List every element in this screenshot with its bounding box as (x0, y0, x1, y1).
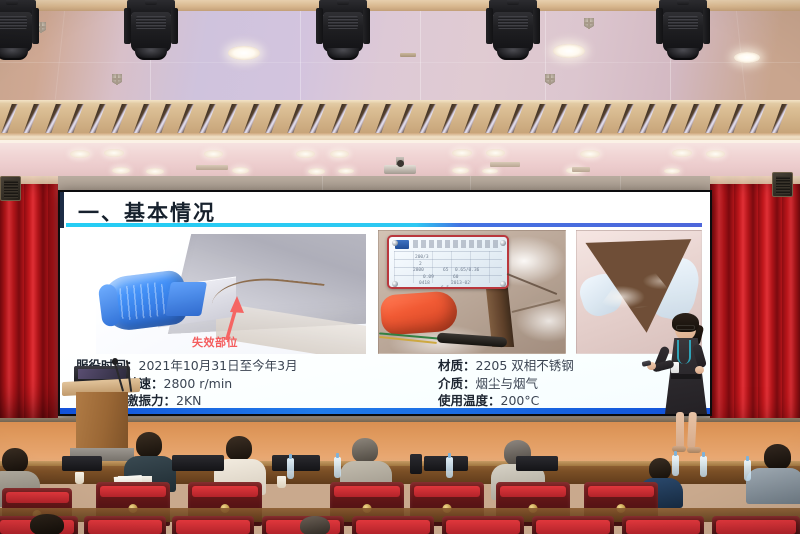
audience-head (352, 438, 378, 463)
stage-light (123, 0, 179, 62)
desk-monitor (62, 456, 102, 471)
ceiling-downlight (734, 52, 760, 63)
spec-line: 材质：2205 双相不锈钢 (438, 358, 574, 375)
wood-slat-ceiling-band (0, 100, 800, 140)
presentation-slide: 一、基本情况 失效部位 (60, 192, 710, 414)
wall-speaker-left (0, 176, 21, 201)
ceiling-downlight (228, 46, 260, 60)
water-bottle (700, 456, 707, 477)
slide-footer-bar (60, 408, 710, 414)
water-bottle (287, 458, 294, 479)
audience-head (136, 432, 162, 458)
audience-area (0, 440, 800, 534)
microphone-head (112, 358, 118, 365)
stage-light (315, 0, 371, 62)
sprinkler-head (584, 18, 594, 29)
spec-value: 200°C (501, 393, 540, 408)
figure-nameplate-photo: 200/3 2 2800 65 0.65/0.36 0.09 60 0418 2… (378, 230, 566, 354)
sprinkler-head (545, 74, 555, 85)
desk-monitor (410, 454, 422, 474)
ceiling-downlight (553, 44, 585, 58)
spec-line: 介质：烟尘与烟气 (438, 376, 574, 393)
spec-value: 2800 r/min (164, 376, 233, 391)
title-divider-rule (66, 223, 702, 227)
audience-head (764, 444, 791, 470)
spec-column-right: 材质：2205 双相不锈钢 介质：烟尘与烟气 使用温度：200°C (438, 358, 574, 410)
audience-head (30, 514, 64, 534)
spec-value: 2021年10月31日至今年3月 (139, 358, 298, 373)
paper-cup (75, 472, 84, 484)
spec-label: 材质： (438, 358, 476, 373)
figure-cad-model: 失效部位 (96, 234, 366, 354)
ceiling (0, 0, 800, 100)
glasses-icon (676, 325, 695, 330)
presenter-hand (695, 366, 704, 374)
spec-value: 烟尘与烟气 (476, 376, 539, 391)
projection-screen: 一、基本情况 失效部位 (58, 190, 712, 416)
auditorium-presentation-scene: 一、基本情况 失效部位 (0, 0, 800, 534)
failure-location-label: 失效部位 (192, 334, 238, 350)
failure-location-arrow (216, 292, 250, 340)
desk-monitor (172, 455, 224, 471)
slide-spec-text: 服役时间：2021年10月31日至今年3月 振动电机转速：2800 r/min … (76, 358, 700, 410)
auditorium-chair (712, 516, 800, 534)
spec-value: 2KN (176, 393, 202, 408)
stage-curtain-right (710, 176, 800, 444)
auditorium-chair (172, 516, 254, 534)
auditorium-chair (442, 516, 524, 534)
audience-torso (746, 468, 800, 504)
ceiling-vent (400, 53, 416, 57)
wall-speaker-right (772, 172, 793, 197)
desk-monitor (516, 456, 558, 471)
auditorium-chair (622, 516, 704, 534)
red-motor-housing (380, 290, 459, 335)
auditorium-chair (532, 516, 614, 534)
audience-head (2, 448, 28, 473)
sprinkler-head (112, 74, 122, 85)
paper-cup (277, 476, 286, 488)
stage-light (485, 0, 541, 62)
motor-nameplate: 200/3 2 2800 65 0.65/0.36 0.09 60 0418 2… (387, 235, 509, 289)
water-bottle (446, 457, 453, 478)
auditorium-chair (84, 516, 166, 534)
ceiling-projector (384, 157, 416, 177)
auditorium-chair (352, 516, 434, 534)
water-bottle (672, 455, 679, 476)
audience-head (226, 436, 252, 461)
water-bottle (744, 460, 751, 481)
audience-head (649, 458, 671, 480)
lanyard (677, 340, 691, 364)
water-bottle (334, 457, 341, 478)
audience-head (300, 516, 330, 534)
spec-label: 介质： (438, 376, 476, 391)
stage-light (0, 0, 40, 62)
stage-light (655, 0, 711, 62)
desk-monitor (272, 455, 320, 471)
spec-value: 2205 双相不锈钢 (476, 358, 574, 373)
stage-curtain-left (0, 176, 58, 428)
title-left-edge (60, 192, 64, 228)
spec-label: 使用温度： (438, 393, 501, 408)
